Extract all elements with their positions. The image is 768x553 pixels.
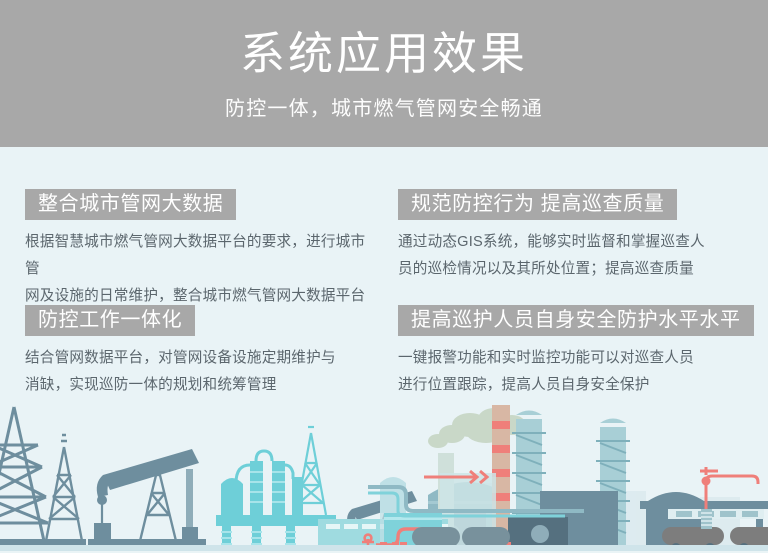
- feature-card-1: 整合城市管网大数据 根据智慧城市燃气管网大数据平台的要求，进行城市管 网及设施的…: [25, 189, 380, 310]
- industry-illustration-svg: [0, 405, 768, 553]
- feature-description-2-line-1: 通过动态GIS系统，能够实时监督和掌握巡查人: [398, 229, 748, 256]
- feature-badge-4: 提高巡护人员自身安全防护水平水平: [398, 305, 754, 336]
- feature-description-1-line-1: 根据智慧城市燃气管网大数据平台的要求，进行城市管: [25, 229, 380, 283]
- feature-card-4: 提高巡护人员自身安全防护水平水平 一键报警功能和实时监控功能可以对巡查人员 进行…: [398, 305, 748, 399]
- feature-badge-2: 规范防控行为 提高巡查质量: [398, 189, 677, 220]
- feature-badge-3: 防控工作一体化: [25, 305, 195, 336]
- feature-card-2: 规范防控行为 提高巡查质量 通过动态GIS系统，能够实时监督和掌握巡查人 员的巡…: [398, 189, 748, 283]
- industry-illustration: [0, 405, 768, 553]
- loading-ladder: [701, 509, 712, 529]
- feature-card-grid: 整合城市管网大数据 根据智慧城市燃气管网大数据平台的要求，进行城市管 网及设施的…: [0, 147, 768, 412]
- feature-description-2-line-2: 员的巡检情况以及其所处位置；提高巡查质量: [398, 256, 748, 283]
- feature-description-4-line-2: 进行位置跟踪，提高人员自身安全保护: [398, 372, 748, 399]
- feature-description-3: 结合管网数据平台，对管网设备设施定期维护与 消缺，实现巡防一体的规划和统筹管理: [25, 345, 380, 399]
- page-title: 系统应用效果: [0, 26, 768, 82]
- valve-wheel-right: [702, 477, 711, 486]
- header-banner: 系统应用效果 防控一体，城市燃气管网安全畅通: [0, 0, 768, 147]
- page-subtitle: 防控一体，城市燃气管网安全畅通: [0, 94, 768, 124]
- feature-description-1: 根据智慧城市燃气管网大数据平台的要求，进行城市管 网及设施的日常维护，整合城市燃…: [25, 229, 380, 310]
- feature-description-4-line-1: 一键报警功能和实时监控功能可以对巡查人员: [398, 345, 748, 372]
- feature-badge-1: 整合城市管网大数据: [25, 189, 236, 220]
- feature-description-4: 一键报警功能和实时监控功能可以对巡查人员 进行位置跟踪，提高人员自身安全保护: [398, 345, 748, 399]
- page-root: 系统应用效果 防控一体，城市燃气管网安全畅通 整合城市管网大数据 根据智慧城市燃…: [0, 0, 768, 553]
- feature-description-3-line-1: 结合管网数据平台，对管网设备设施定期维护与: [25, 345, 380, 372]
- feature-card-3: 防控工作一体化 结合管网数据平台，对管网设备设施定期维护与 消缺，实现巡防一体的…: [25, 305, 380, 399]
- feature-description-2: 通过动态GIS系统，能够实时监督和掌握巡查人 员的巡检情况以及其所处位置；提高巡…: [398, 229, 748, 283]
- feature-description-3-line-2: 消缺，实现巡防一体的规划和统筹管理: [25, 372, 380, 399]
